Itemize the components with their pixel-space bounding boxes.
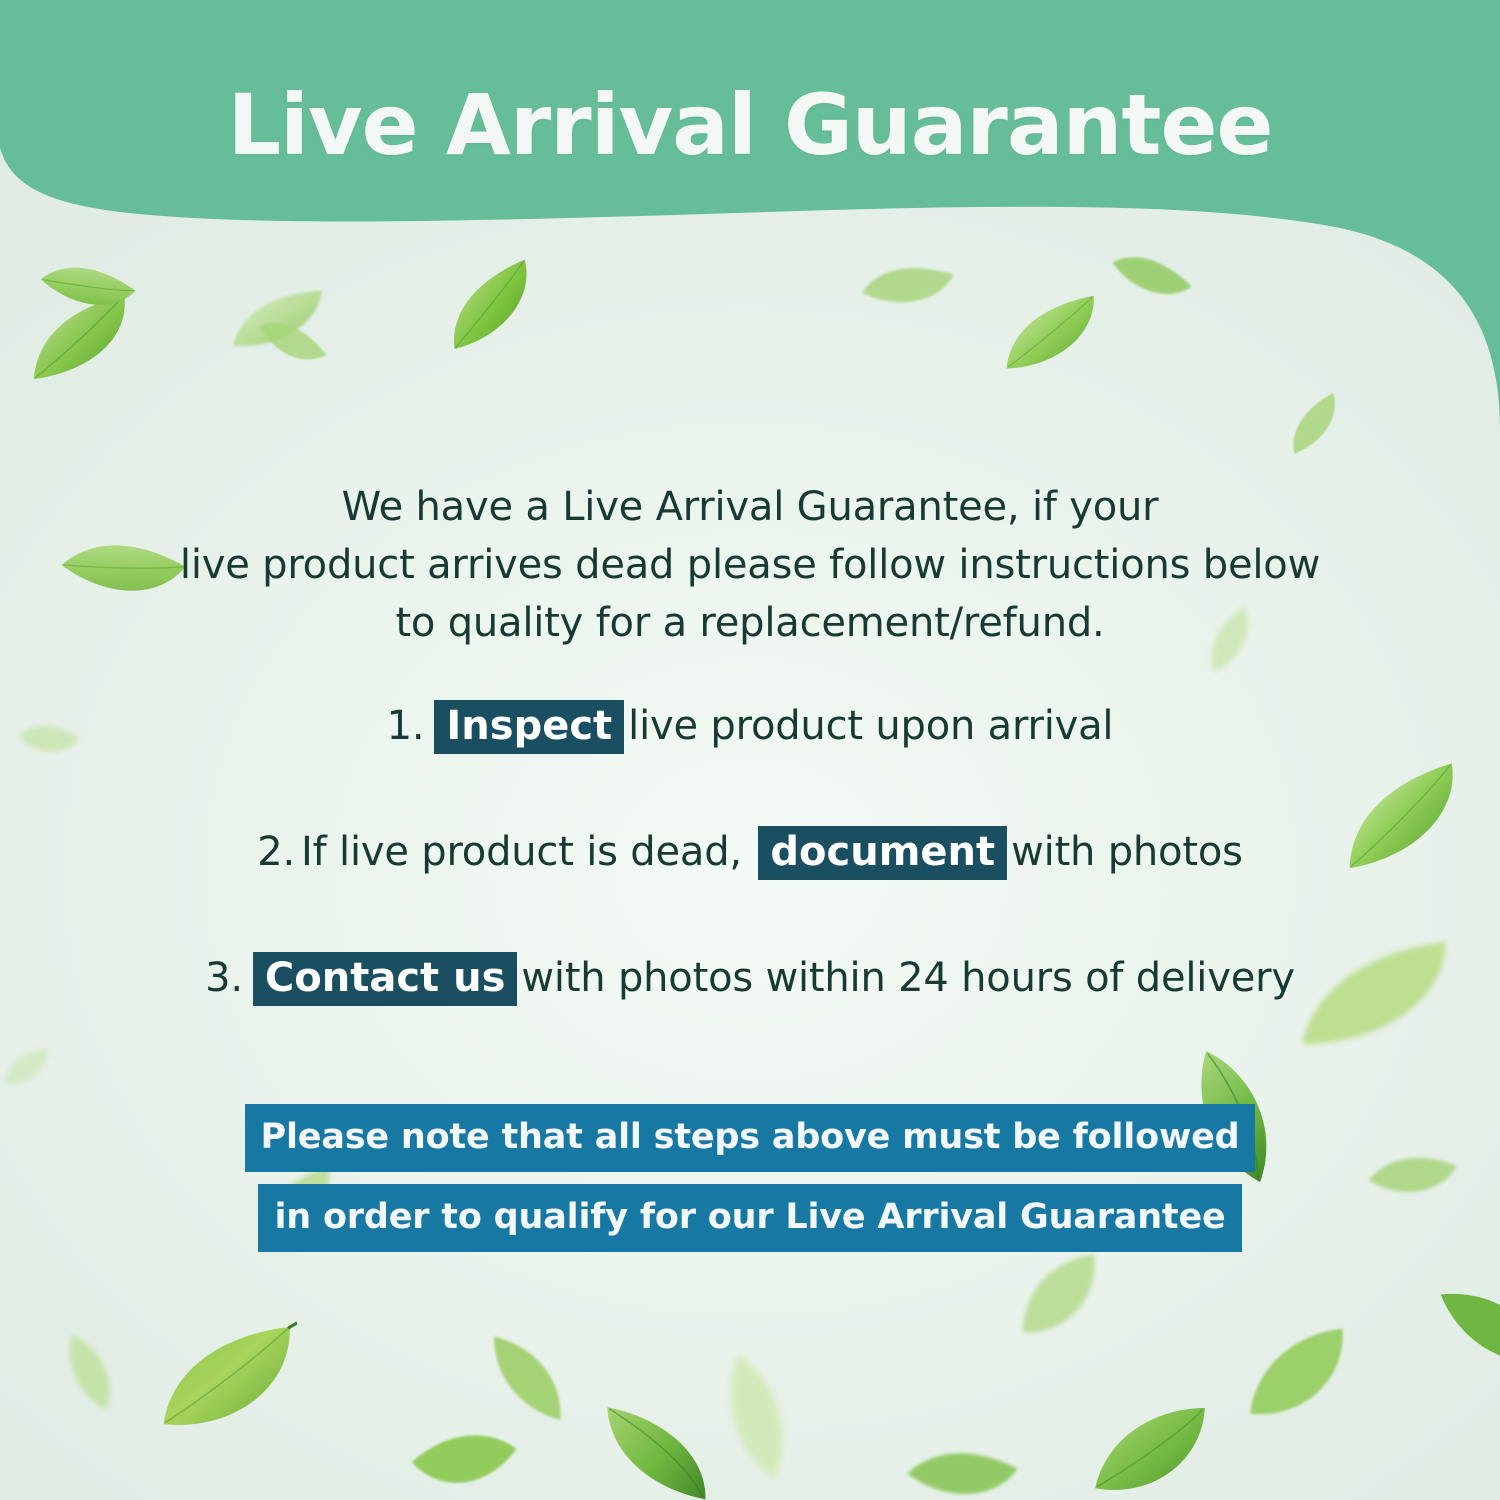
step-text-3: with photos within 24 hours of delivery (521, 955, 1294, 1001)
step-item-3: 3.Contact uswith photos within 24 hours … (0, 952, 1500, 1006)
note-block: Please note that all steps above must be… (0, 1104, 1500, 1252)
step-highlight-contact-us[interactable]: Contact us (253, 952, 517, 1006)
note-line-2: in order to qualify for our Live Arrival… (258, 1184, 1241, 1252)
step-item-2: 2.If live product is dead, documentwith … (0, 826, 1500, 880)
poster-canvas: Live Arrival Guarantee (0, 0, 1500, 1500)
intro-line-1: We have a Live Arrival Guarantee, if you… (150, 478, 1350, 536)
intro-line-2: live product arrives dead please follow … (150, 536, 1350, 594)
note-line-1: Please note that all steps above must be… (245, 1104, 1256, 1172)
steps-list: 1.Inspectlive product upon arrival 2.If … (0, 700, 1500, 1006)
page-title: Live Arrival Guarantee (0, 76, 1500, 174)
step-number-1: 1. (387, 703, 425, 749)
step-item-1: 1.Inspectlive product upon arrival (0, 700, 1500, 754)
step-pretext-2: If live product is dead, (301, 829, 742, 875)
note-row-1: Please note that all steps above must be… (0, 1104, 1500, 1172)
step-number-2: 2. (257, 829, 295, 875)
step-text-2: with photos (1011, 829, 1243, 875)
step-number-3: 3. (205, 955, 243, 1001)
intro-line-3: to quality for a replacement/refund. (150, 594, 1350, 652)
note-row-2: in order to qualify for our Live Arrival… (0, 1184, 1500, 1252)
intro-paragraph: We have a Live Arrival Guarantee, if you… (150, 478, 1350, 652)
content-area: We have a Live Arrival Guarantee, if you… (0, 0, 1500, 1500)
step-highlight-document[interactable]: document (758, 826, 1007, 880)
step-text-1: live product upon arrival (628, 703, 1113, 749)
step-highlight-inspect[interactable]: Inspect (434, 700, 624, 754)
